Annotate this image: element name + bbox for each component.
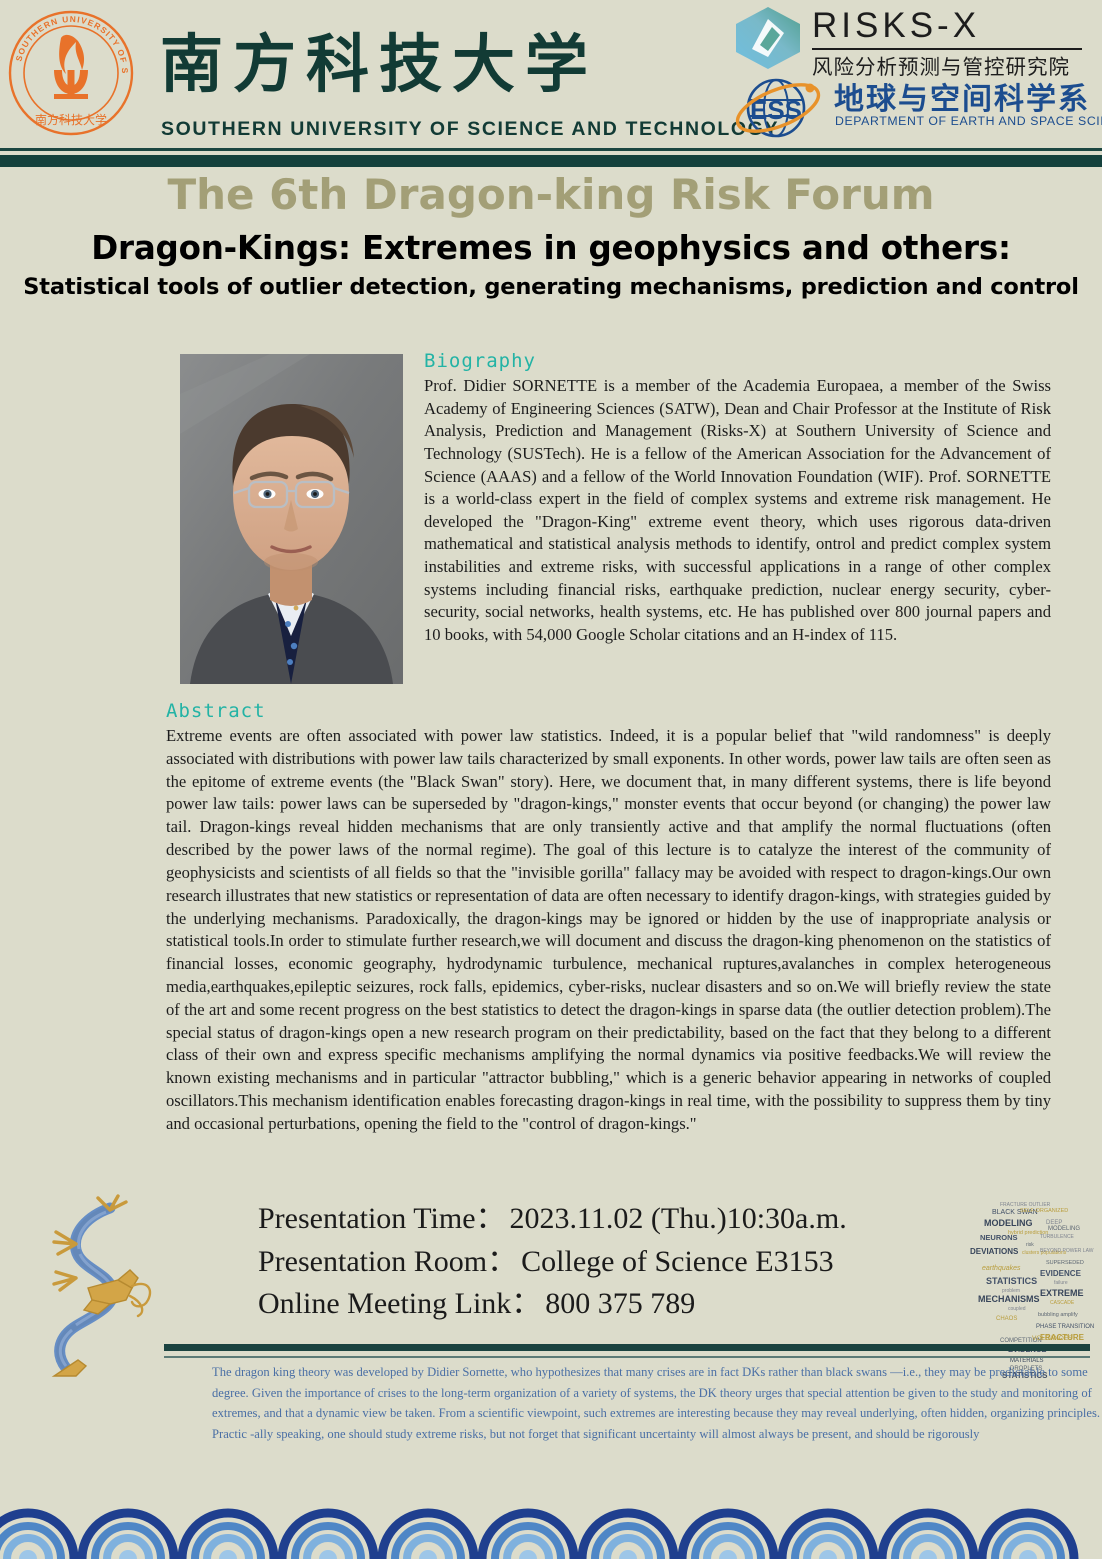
detail-link-label: Online Meeting Link： [258, 1287, 541, 1320]
biography-text: Prof. Didier SORNETTE is a member of the… [424, 375, 1051, 647]
svg-text:coupled: coupled [1008, 1306, 1026, 1312]
svg-text:MODELING: MODELING [984, 1218, 1033, 1228]
header-divider-thin [0, 148, 1102, 151]
svg-text:TURBULENCE: TURBULENCE [1040, 1234, 1075, 1240]
svg-text:EVIDENCE: EVIDENCE [1040, 1269, 1082, 1278]
risks-x-logo-block: RISKS-X 风险分析预测与管控研究院 [730, 4, 1090, 72]
poster-header: SOUTHERN UNIVERSITY OF SCIENCE AND TECHN… [0, 0, 1102, 146]
footnote-text: The dragon king theory was developed by … [212, 1362, 1102, 1444]
footer-divider-thick [164, 1344, 1090, 1351]
header-divider-thick [0, 155, 1102, 167]
detail-room-label: Presentation Room： [258, 1245, 517, 1278]
poster-root: SOUTHERN UNIVERSITY OF SCIENCE AND TECHN… [0, 0, 1102, 1559]
abstract-text: Extreme events are often associated with… [166, 725, 1051, 1136]
ess-globe-icon: ESS [732, 72, 828, 142]
svg-text:STATISTICS: STATISTICS [986, 1276, 1037, 1286]
detail-time: Presentation Time：2023.11.02 (Thu.)10:30… [258, 1198, 1018, 1241]
svg-text:MECHANISMS: MECHANISMS [978, 1294, 1040, 1304]
detail-time-value: 2023.11.02 (Thu.)10:30a.m. [510, 1202, 847, 1235]
svg-text:BEYOND POWER LAW: BEYOND POWER LAW [1040, 1248, 1094, 1254]
svg-text:SUPERSEDED: SUPERSEDED [1046, 1260, 1084, 1266]
university-name-cn: 南方科技大学 [160, 14, 598, 105]
university-name-en: SOUTHERN UNIVERSITY OF SCIENCE AND TECHN… [161, 118, 779, 141]
svg-text:failure: failure [1054, 1280, 1068, 1286]
svg-text:EXTREME: EXTREME [1040, 1288, 1084, 1298]
title-block: The 6th Dragon-king Risk Forum Dragon-Ki… [0, 172, 1102, 301]
footer-divider-thin [164, 1356, 1090, 1358]
ess-title-cn: 地球与空间科学系 [834, 74, 1090, 118]
svg-text:PHASE TRANSITION: PHASE TRANSITION [1036, 1324, 1094, 1330]
svg-text:risk: risk [1026, 1242, 1034, 1248]
ess-title-en: DEPARTMENT OF EARTH AND SPACE SCIENCES [835, 114, 1102, 128]
detail-time-label: Presentation Time： [258, 1202, 506, 1235]
wordcloud-illustration-icon: FRACTURE OUTLIER BLACK SWAN SELF-ORGANIZ… [962, 1190, 1098, 1380]
risks-x-title: RISKS-X [812, 6, 980, 46]
svg-text:CHAOS: CHAOS [996, 1316, 1017, 1322]
lecture-title: Dragon-Kings: Extremes in geophysics and… [0, 230, 1102, 267]
event-details: Presentation Time：2023.11.02 (Thu.)10:30… [258, 1198, 1018, 1326]
abstract-heading: Abstract [166, 700, 1051, 722]
seigaiha-wave-pattern [0, 1459, 1102, 1559]
svg-text:MODELING: MODELING [1048, 1226, 1080, 1232]
dragon-illustration-icon [14, 1192, 164, 1377]
detail-link-value[interactable]: 800 375 789 [545, 1287, 695, 1320]
svg-text:SELF-ORGANIZED: SELF-ORGANIZED [1020, 1208, 1068, 1214]
svg-text:VOLCANOES: VOLCANOES [1032, 1335, 1073, 1342]
biography-section: Biography Prof. Didier SORNETTE is a mem… [424, 350, 1051, 647]
detail-room-value: College of Science E3153 [521, 1245, 833, 1278]
risks-x-hexagon-icon [732, 5, 804, 71]
svg-text:earthquakes: earthquakes [982, 1265, 1021, 1272]
lecture-subtitle: Statistical tools of outlier detection, … [0, 274, 1102, 301]
svg-text:CASCADE: CASCADE [1050, 1300, 1075, 1306]
detail-meeting-link[interactable]: Online Meeting Link：800 375 789 [258, 1283, 1018, 1326]
detail-room: Presentation Room：College of Science E31… [258, 1241, 1018, 1284]
speaker-portrait [180, 354, 403, 684]
forum-title: The 6th Dragon-king Risk Forum [0, 172, 1102, 218]
svg-text:DEVIATIONS: DEVIATIONS [970, 1247, 1019, 1256]
sustech-wordmark: 南方科技大学 SOUTHERN UNIVERSITY OF SCIENCE AN… [8, 6, 548, 142]
ess-logo-block: ESS 地球与空间科学系 DEPARTMENT OF EARTH AND SPA… [730, 72, 1090, 144]
svg-text:bubbling amplify: bubbling amplify [1038, 1312, 1078, 1318]
biography-heading: Biography [424, 350, 1051, 372]
svg-text:NEURONS: NEURONS [980, 1233, 1018, 1242]
abstract-section: Abstract Extreme events are often associ… [166, 700, 1051, 1136]
